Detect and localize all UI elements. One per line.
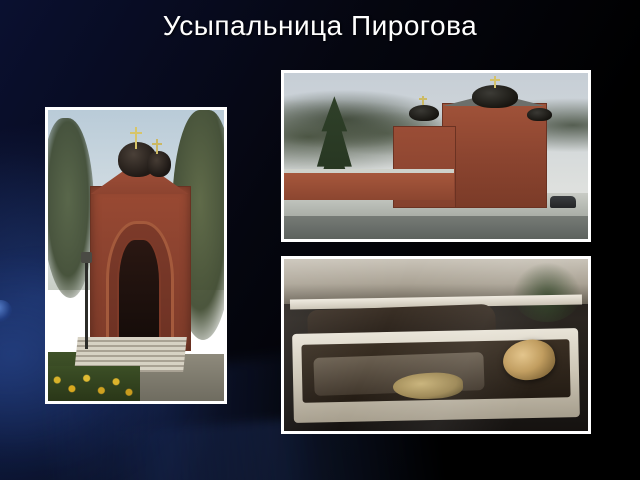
image-church-winter <box>281 70 591 242</box>
image-church-winter-content <box>284 73 588 239</box>
chapel-flower-bed <box>48 366 140 401</box>
winter-cross-left <box>422 96 424 105</box>
presentation-slide: Усыпальница Пирогова <box>0 0 640 480</box>
winter-cross-main <box>494 76 496 88</box>
chapel-cross-main <box>135 127 137 149</box>
chapel-cross-secondary <box>156 139 158 154</box>
winter-dome-left <box>409 105 439 122</box>
chapel-entrance-door <box>117 238 161 347</box>
image-sarcophagus-content <box>284 259 588 431</box>
slide-title: Усыпальница Пирогова <box>0 10 640 42</box>
chapel-lamp-post <box>85 261 88 348</box>
winter-dome-right <box>527 108 551 121</box>
winter-brick-fence <box>284 169 454 200</box>
sarcophagus-plant <box>512 262 582 322</box>
image-chapel-front <box>45 107 227 404</box>
chapel-dome-secondary <box>147 151 172 177</box>
background-dot-decoration <box>0 300 12 322</box>
image-sarcophagus <box>281 256 591 434</box>
winter-parked-car <box>550 196 576 208</box>
image-chapel-front-content <box>48 110 224 401</box>
winter-road <box>284 216 588 239</box>
